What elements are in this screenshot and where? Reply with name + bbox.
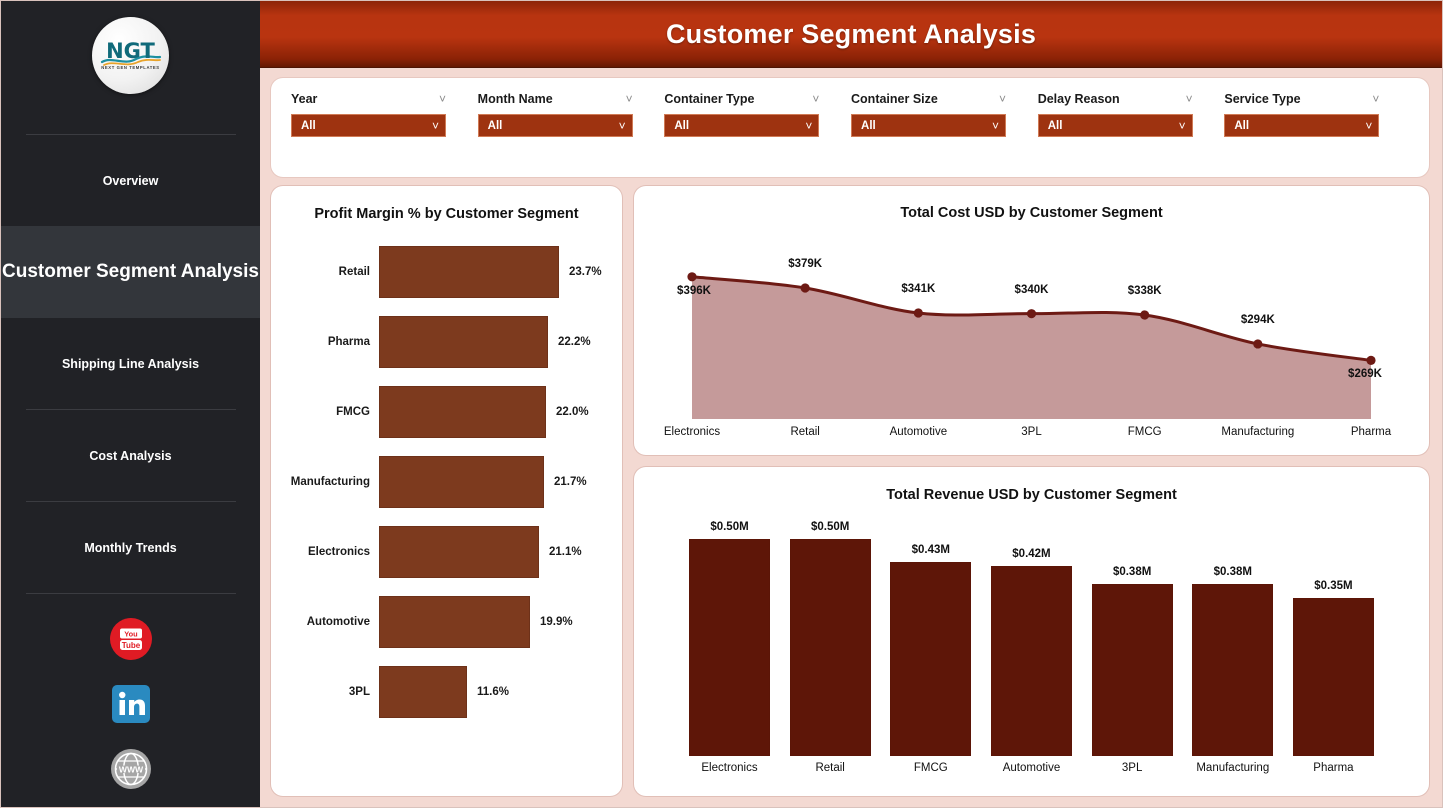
- cost-area-fill: [692, 277, 1371, 419]
- profit-margin-bar-wrap: 21.1%: [379, 526, 622, 578]
- sidebar-item-label: Shipping Line Analysis: [62, 357, 199, 371]
- revenue-category-label: Pharma: [1293, 762, 1374, 782]
- cost-data-point[interactable]: [1027, 309, 1036, 318]
- cost-data-label: $396K: [677, 285, 711, 297]
- profit-margin-value-label: 21.7%: [554, 476, 587, 488]
- profit-margin-title: Profit Margin % by Customer Segment: [271, 186, 622, 222]
- profit-margin-category-label: Pharma: [271, 336, 379, 348]
- filter-label: Year: [291, 92, 317, 106]
- revenue-axis-labels: ElectronicsRetailFMCGAutomotive3PLManufa…: [689, 762, 1374, 782]
- revenue-bar[interactable]: [1293, 598, 1374, 756]
- filter-year: Year ˅ All ˅: [291, 92, 478, 137]
- profit-margin-row[interactable]: 3PL11.6%: [271, 664, 622, 720]
- revenue-bar[interactable]: [890, 562, 971, 756]
- chevron-down-icon[interactable]: ˅: [1372, 93, 1379, 105]
- filter-bar: Year ˅ All ˅ Month Name ˅ All ˅: [271, 78, 1429, 177]
- profit-margin-category-label: Manufacturing: [271, 476, 379, 488]
- profit-margin-panel: Profit Margin % by Customer Segment Reta…: [271, 186, 622, 796]
- cost-data-point[interactable]: [687, 272, 696, 281]
- total-revenue-panel: Total Revenue USD by Customer Segment $0…: [634, 467, 1429, 796]
- profit-margin-row[interactable]: Electronics21.1%: [271, 524, 622, 580]
- sidebar-item-label: Cost Analysis: [89, 449, 171, 463]
- chevron-down-icon: ˅: [1179, 120, 1186, 132]
- linkedin-icon[interactable]: [110, 683, 152, 725]
- cost-data-point[interactable]: [801, 283, 810, 292]
- social-links: You Tube WWW: [110, 618, 152, 790]
- profit-margin-value-label: 19.9%: [540, 616, 573, 628]
- revenue-category-label: 3PL: [1092, 762, 1173, 782]
- revenue-value-label: $0.38M: [1113, 566, 1151, 578]
- revenue-value-label: $0.38M: [1214, 566, 1252, 578]
- dashboard-content: Profit Margin % by Customer Segment Reta…: [260, 177, 1442, 807]
- filter-value: All: [1234, 120, 1249, 132]
- profit-margin-category-label: 3PL: [271, 686, 379, 698]
- profit-margin-category-label: FMCG: [271, 406, 379, 418]
- revenue-value-label: $0.35M: [1314, 580, 1352, 592]
- revenue-column[interactable]: $0.50M: [689, 521, 770, 756]
- profit-margin-bar-wrap: 19.9%: [379, 596, 622, 648]
- chevron-down-icon: ˅: [1365, 120, 1372, 132]
- filter-label: Container Type: [664, 92, 754, 106]
- revenue-value-label: $0.50M: [811, 521, 849, 533]
- revenue-column[interactable]: $0.50M: [790, 521, 871, 756]
- page-header: Customer Segment Analysis: [260, 1, 1442, 68]
- revenue-category-label: Automotive: [991, 762, 1072, 782]
- filter-delay-reason: Delay Reason ˅ All ˅: [1038, 92, 1225, 137]
- chevron-down-icon[interactable]: ˅: [439, 93, 446, 105]
- website-icon[interactable]: WWW: [110, 748, 152, 790]
- sidebar-item-shipping-line-analysis[interactable]: Shipping Line Analysis: [1, 318, 260, 409]
- cost-category-label: Electronics: [664, 426, 720, 438]
- sidebar-item-label: Overview: [103, 174, 159, 188]
- filter-label: Service Type: [1224, 92, 1300, 106]
- chevron-down-icon: ˅: [805, 120, 812, 132]
- cost-category-label: Retail: [790, 426, 819, 438]
- total-revenue-bar-chart: $0.50M$0.50M$0.43M$0.42M$0.38M$0.38M$0.3…: [634, 503, 1429, 796]
- logo-subtitle: NEXT GEN TEMPLATES: [101, 65, 159, 70]
- chevron-down-icon[interactable]: ˅: [999, 93, 1006, 105]
- total-cost-panel: Total Cost USD by Customer Segment $396K…: [634, 186, 1429, 455]
- filter-month-name-select[interactable]: All ˅: [478, 114, 633, 137]
- youtube-icon[interactable]: You Tube: [110, 618, 152, 660]
- cost-data-point[interactable]: [914, 308, 923, 317]
- profit-margin-value-label: 22.2%: [558, 336, 591, 348]
- profit-margin-value-label: 23.7%: [569, 266, 602, 278]
- filter-container-size: Container Size ˅ All ˅: [851, 92, 1038, 137]
- cost-data-label: $269K: [1348, 368, 1382, 380]
- nav-divider-3: [26, 593, 236, 594]
- profit-margin-row[interactable]: FMCG22.0%: [271, 384, 622, 440]
- sidebar-item-monthly-trends[interactable]: Monthly Trends: [1, 502, 260, 593]
- profit-margin-value-label: 21.1%: [549, 546, 582, 558]
- right-column: Total Cost USD by Customer Segment $396K…: [634, 186, 1429, 796]
- revenue-columns: $0.50M$0.50M$0.43M$0.42M$0.38M$0.38M$0.3…: [689, 521, 1374, 756]
- filter-year-head: Year ˅: [291, 92, 446, 106]
- filter-container-size-select[interactable]: All ˅: [851, 114, 1006, 137]
- filter-service-type-head: Service Type ˅: [1224, 92, 1379, 106]
- filter-delay-reason-select[interactable]: All ˅: [1038, 114, 1193, 137]
- revenue-value-label: $0.43M: [912, 544, 950, 556]
- chevron-down-icon: ˅: [619, 120, 626, 132]
- revenue-category-label: Retail: [790, 762, 871, 782]
- filter-service-type: Service Type ˅ All ˅: [1224, 92, 1411, 137]
- cost-data-label: $340K: [1015, 284, 1049, 296]
- revenue-bar[interactable]: [991, 566, 1072, 756]
- revenue-value-label: $0.42M: [1012, 548, 1050, 560]
- profit-margin-category-label: Automotive: [271, 616, 379, 628]
- cost-category-label: Pharma: [1351, 426, 1391, 438]
- profit-margin-bar-wrap: 11.6%: [379, 666, 622, 718]
- filter-service-type-select[interactable]: All ˅: [1224, 114, 1379, 137]
- svg-text:You: You: [124, 630, 138, 639]
- revenue-category-label: FMCG: [890, 762, 971, 782]
- sidebar-item-customer-segment-analysis[interactable]: Customer Segment Analysis: [1, 226, 260, 318]
- left-column: Profit Margin % by Customer Segment Reta…: [271, 186, 622, 796]
- dashboard-root: NGT NEXT GEN TEMPLATES Overview Customer…: [0, 0, 1443, 808]
- filter-label: Month Name: [478, 92, 553, 106]
- revenue-bar[interactable]: [1192, 584, 1273, 756]
- cost-data-label: $294K: [1241, 314, 1275, 326]
- revenue-column[interactable]: $0.42M: [991, 521, 1072, 756]
- profit-margin-row[interactable]: Pharma22.2%: [271, 314, 622, 370]
- filter-month-name: Month Name ˅ All ˅: [478, 92, 665, 137]
- filter-value: All: [861, 120, 876, 132]
- filter-label: Delay Reason: [1038, 92, 1120, 106]
- sidebar-item-overview[interactable]: Overview: [1, 135, 260, 226]
- revenue-bar[interactable]: [1092, 584, 1173, 756]
- main-area: Customer Segment Analysis Year ˅ All ˅ M…: [260, 1, 1442, 807]
- cost-area-svg: [634, 221, 1429, 455]
- cost-data-point[interactable]: [1253, 339, 1262, 348]
- sidebar-item-cost-analysis[interactable]: Cost Analysis: [1, 410, 260, 501]
- profit-margin-bar[interactable]: [379, 666, 467, 718]
- revenue-category-label: Manufacturing: [1192, 762, 1273, 782]
- filter-month-name-head: Month Name ˅: [478, 92, 633, 106]
- profit-margin-row[interactable]: Automotive19.9%: [271, 594, 622, 650]
- chevron-down-icon[interactable]: ˅: [812, 93, 819, 105]
- revenue-column[interactable]: $0.35M: [1293, 521, 1374, 756]
- profit-margin-bar-wrap: 22.0%: [379, 386, 622, 438]
- chevron-down-icon[interactable]: ˅: [626, 93, 633, 105]
- cost-category-label: 3PL: [1021, 426, 1041, 438]
- filter-value: All: [674, 120, 689, 132]
- logo-text: NGT: [106, 41, 155, 62]
- profit-margin-value-label: 11.6%: [477, 686, 509, 698]
- chevron-down-icon[interactable]: ˅: [1186, 93, 1193, 105]
- profit-margin-bar-wrap: 22.2%: [379, 316, 622, 368]
- svg-text:WWW: WWW: [118, 764, 143, 774]
- revenue-column[interactable]: $0.38M: [1092, 521, 1173, 756]
- profit-margin-bar[interactable]: [379, 246, 559, 298]
- cost-data-label: $338K: [1128, 285, 1162, 297]
- filter-value: All: [488, 120, 503, 132]
- profit-margin-bar[interactable]: [379, 386, 546, 438]
- sidebar: NGT NEXT GEN TEMPLATES Overview Customer…: [1, 1, 260, 807]
- total-cost-area-chart: $396KElectronics$379KRetail$341KAutomoti…: [634, 221, 1429, 455]
- profit-margin-row[interactable]: Retail23.7%: [271, 244, 622, 300]
- filter-delay-reason-head: Delay Reason ˅: [1038, 92, 1193, 106]
- page-title: Customer Segment Analysis: [666, 19, 1036, 50]
- profit-margin-bars: Retail23.7%Pharma22.2%FMCG22.0%Manufactu…: [271, 222, 622, 796]
- chevron-down-icon: ˅: [992, 120, 999, 132]
- profit-margin-value-label: 22.0%: [556, 406, 589, 418]
- cost-category-label: Automotive: [890, 426, 948, 438]
- revenue-bar[interactable]: [689, 539, 770, 756]
- profit-margin-bar[interactable]: [379, 526, 539, 578]
- sidebar-item-label: Customer Segment Analysis: [2, 259, 259, 285]
- filter-year-select[interactable]: All ˅: [291, 114, 446, 137]
- cost-data-label: $379K: [788, 258, 822, 270]
- filter-container-type-select[interactable]: All ˅: [664, 114, 819, 137]
- cost-category-label: FMCG: [1128, 426, 1162, 438]
- profit-margin-bar-wrap: 21.7%: [379, 456, 622, 508]
- ngt-logo: NGT NEXT GEN TEMPLATES: [92, 17, 169, 94]
- profit-margin-category-label: Retail: [271, 266, 379, 278]
- filter-value: All: [301, 120, 316, 132]
- filter-container-type: Container Type ˅ All ˅: [664, 92, 851, 137]
- chevron-down-icon: ˅: [432, 120, 439, 132]
- cost-data-point[interactable]: [1140, 310, 1149, 319]
- revenue-column[interactable]: $0.43M: [890, 521, 971, 756]
- profit-margin-bar[interactable]: [379, 596, 530, 648]
- filter-label: Container Size: [851, 92, 938, 106]
- revenue-category-label: Electronics: [689, 762, 770, 782]
- cost-data-point[interactable]: [1366, 356, 1375, 365]
- filter-value: All: [1048, 120, 1063, 132]
- revenue-column[interactable]: $0.38M: [1192, 521, 1273, 756]
- total-revenue-title: Total Revenue USD by Customer Segment: [634, 467, 1429, 503]
- sidebar-item-label: Monthly Trends: [84, 541, 176, 555]
- cost-data-label: $341K: [901, 283, 935, 295]
- total-cost-title: Total Cost USD by Customer Segment: [634, 186, 1429, 221]
- profit-margin-bar-wrap: 23.7%: [379, 246, 622, 298]
- revenue-value-label: $0.50M: [710, 521, 748, 533]
- filter-container-type-head: Container Type ˅: [664, 92, 819, 106]
- profit-margin-bar[interactable]: [379, 316, 548, 368]
- cost-category-label: Manufacturing: [1221, 426, 1294, 438]
- filter-container-size-head: Container Size ˅: [851, 92, 1006, 106]
- profit-margin-row[interactable]: Manufacturing21.7%: [271, 454, 622, 510]
- profit-margin-bar[interactable]: [379, 456, 544, 508]
- svg-text:Tube: Tube: [121, 641, 140, 650]
- revenue-bar[interactable]: [790, 539, 871, 756]
- profit-margin-category-label: Electronics: [271, 546, 379, 558]
